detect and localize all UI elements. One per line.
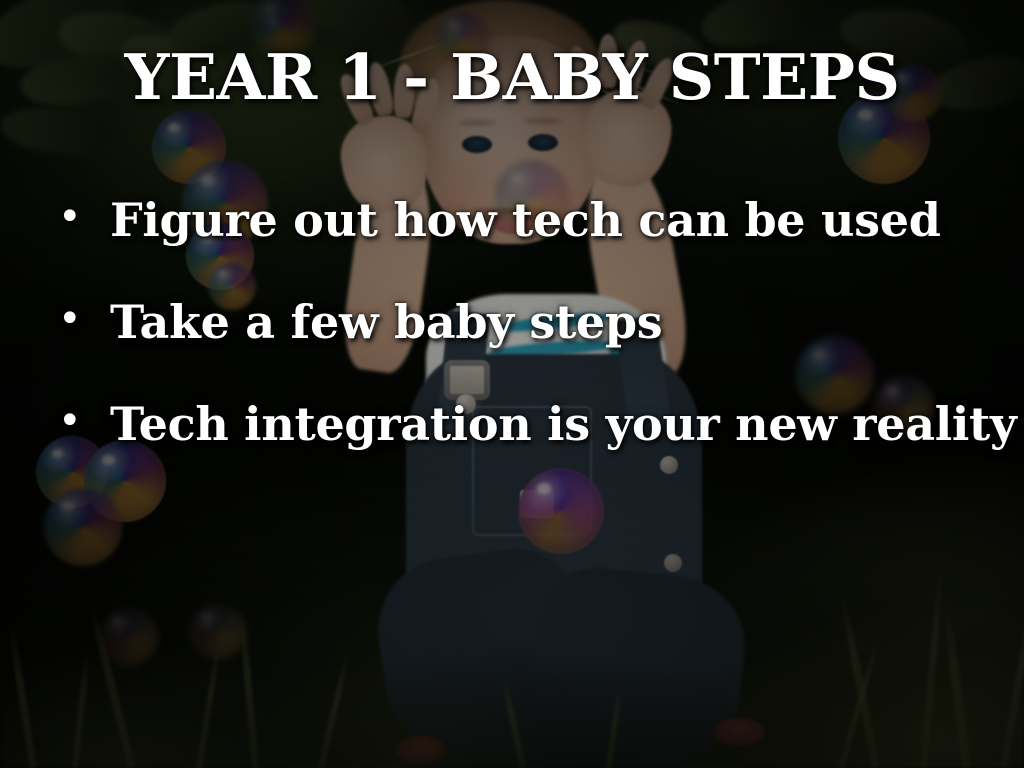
bullet-point-icon: • [58,299,110,339]
list-item: • Take a few baby steps [58,298,1014,347]
presentation-slide: YEAR 1 - BABY STEPS • Figure out how tec… [0,0,1024,768]
list-item: • Figure out how tech can be used [58,196,1014,245]
slide-title: YEAR 1 - BABY STEPS [0,46,1024,109]
bullet-text: Figure out how tech can be used [110,196,941,245]
bullet-text: Take a few baby steps [110,298,662,347]
slide-content: YEAR 1 - BABY STEPS • Figure out how tec… [0,0,1024,768]
bullet-text: Tech integration is your new reality [110,400,1016,449]
list-item: • Tech integration is your new reality [58,400,1014,449]
bullet-point-icon: • [58,197,110,237]
bullet-list: • Figure out how tech can be used • Take… [58,196,1014,501]
bullet-point-icon: • [58,401,110,441]
